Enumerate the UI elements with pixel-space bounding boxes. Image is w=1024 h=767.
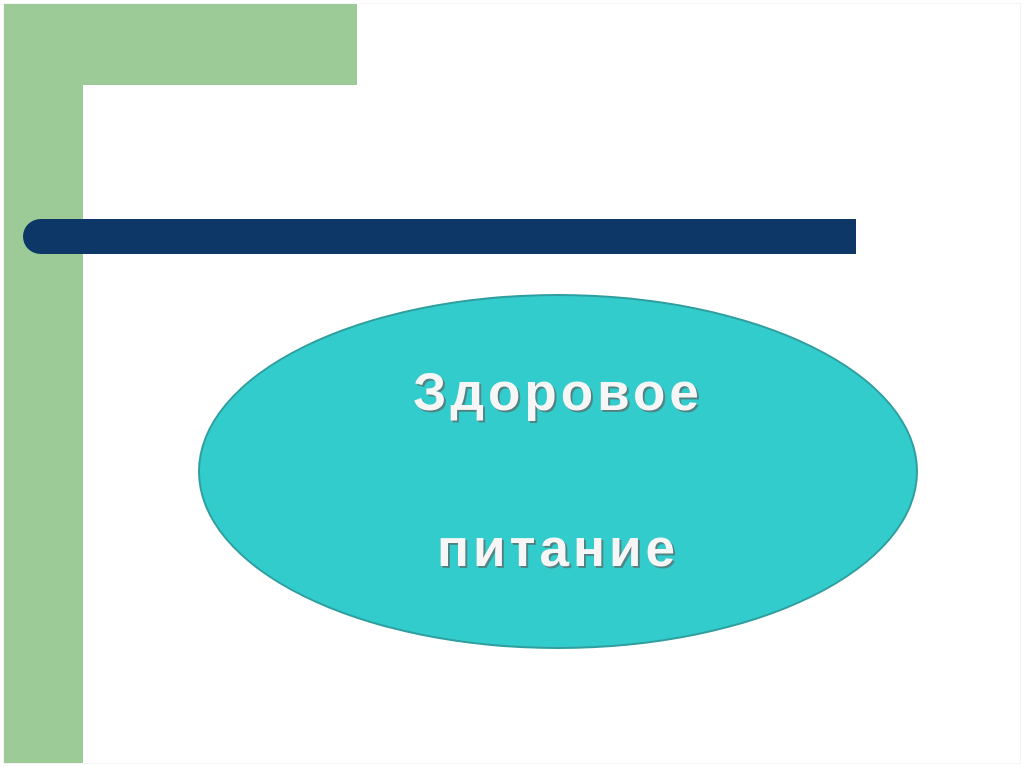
title-ellipse-shape: Здоровое питание bbox=[198, 294, 918, 649]
presentation-slide: Здоровое питание bbox=[0, 0, 1024, 767]
navy-title-rule bbox=[23, 219, 856, 254]
slide-title-line-2: питание bbox=[200, 511, 916, 586]
green-top-band bbox=[3, 3, 357, 85]
slide-title: Здоровое питание bbox=[200, 279, 916, 663]
slide-title-line-1: Здоровое bbox=[200, 355, 916, 430]
green-vertical-band bbox=[3, 3, 83, 764]
